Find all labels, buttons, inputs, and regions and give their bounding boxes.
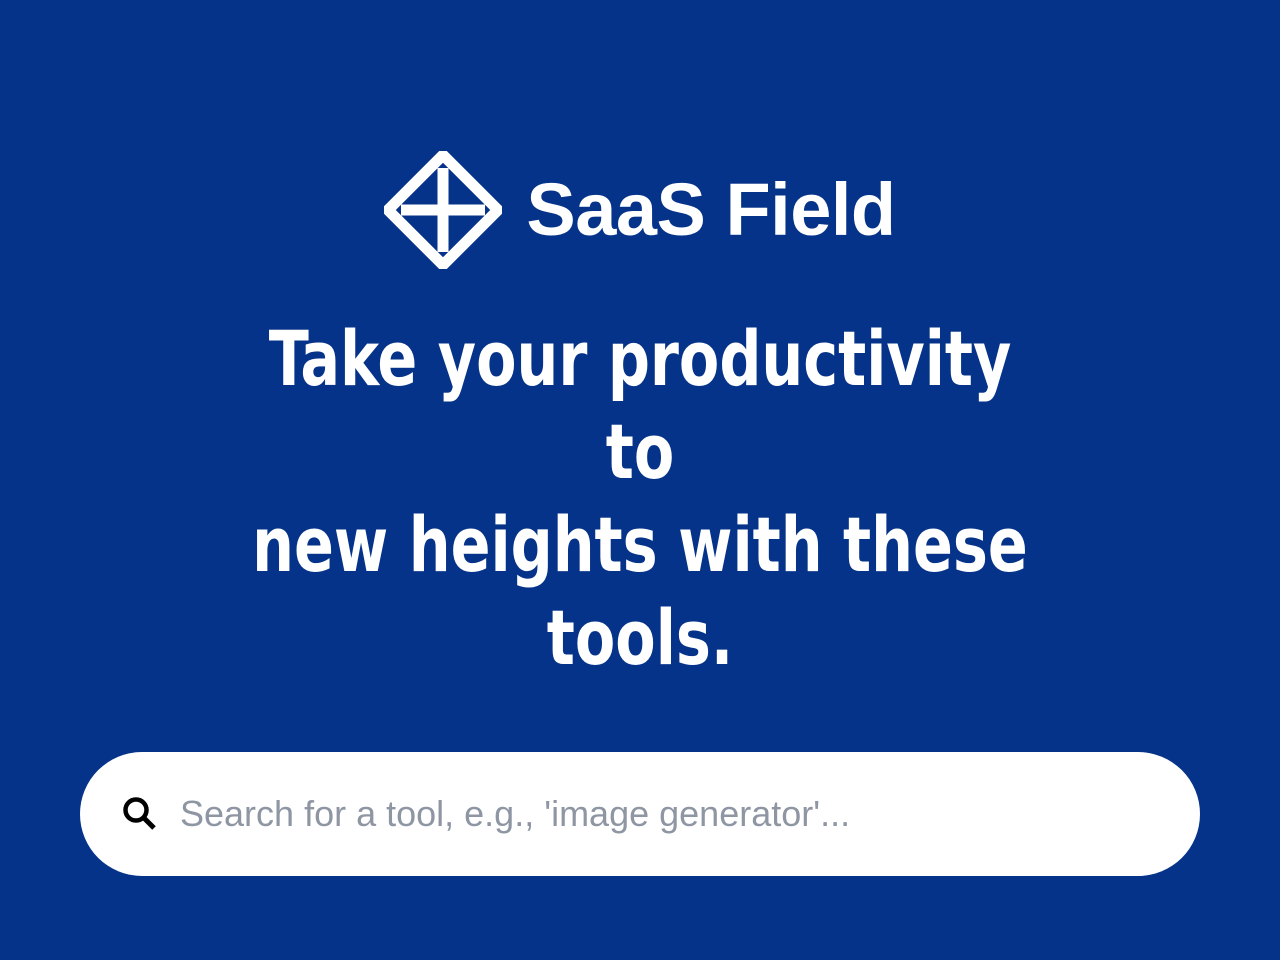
search-section — [80, 752, 1200, 876]
headline-line-2: new heights with these — [252, 500, 1028, 589]
brand-header: SaaS Field — [384, 150, 895, 270]
diamond-quadrant-icon — [384, 151, 502, 269]
search-input[interactable] — [180, 792, 1160, 836]
search-bar[interactable] — [80, 752, 1200, 876]
page-title: Take your productivity tonew heights wit… — [227, 312, 1053, 684]
brand-name: SaaS Field — [526, 173, 895, 247]
search-icon — [120, 795, 158, 833]
hero-section: SaaS Field Take your productivity tonew … — [0, 0, 1280, 960]
headline-line-1: Take your productivity to — [269, 314, 1012, 496]
headline-line-3: tools. — [547, 593, 733, 682]
